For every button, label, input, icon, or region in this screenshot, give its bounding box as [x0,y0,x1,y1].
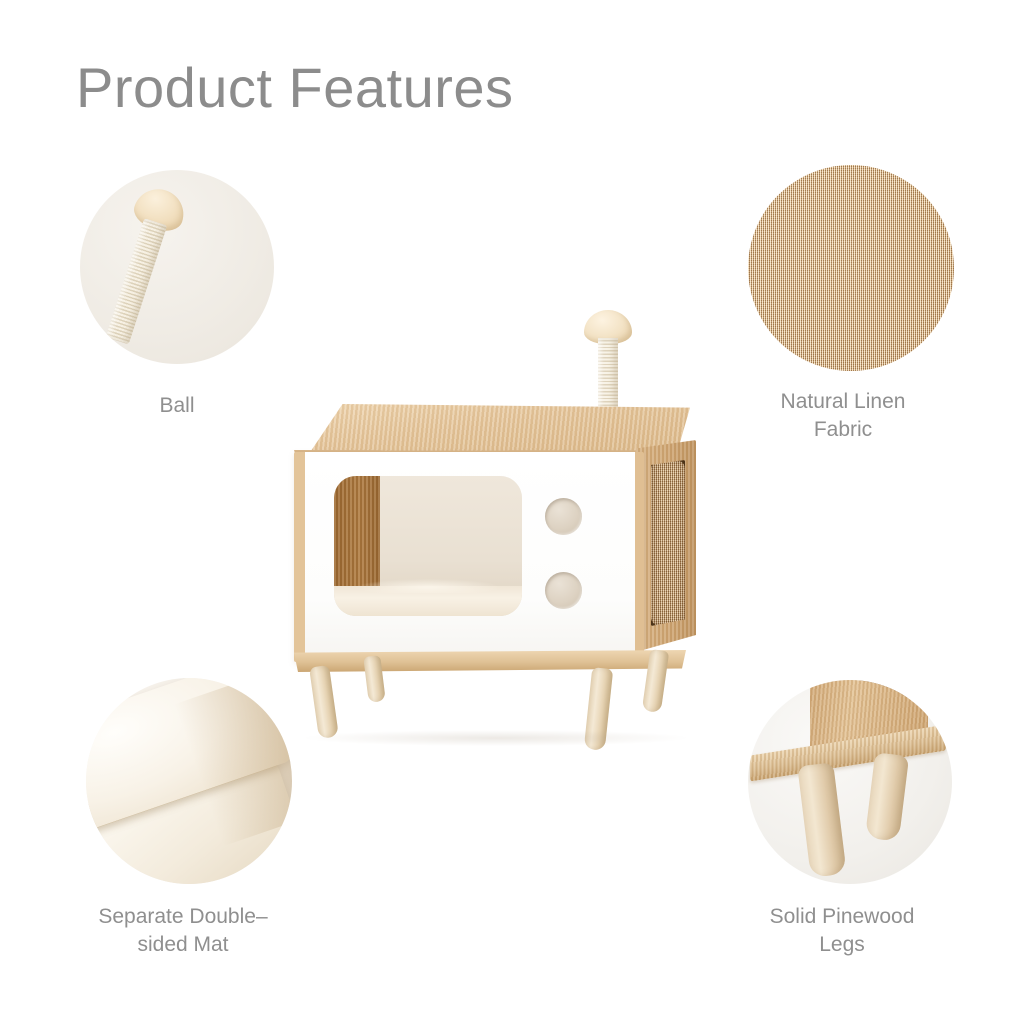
mat-label-line-2: sided Mat [53,931,313,959]
linen-label-line-2: Fabric [713,416,973,444]
sisal-post-with-ball-icon [91,182,194,351]
product-base-frame [290,650,690,672]
pinewood-legs-feature-label: Solid Pinewood Legs [712,903,972,958]
legs-label-line-2: Legs [712,931,972,959]
pinewood-legs-feature-circle [748,680,952,884]
mat-label-line-1: Separate Double– [53,903,313,931]
product-leg-front-left [309,665,339,739]
product-knob-bottom-icon [545,572,582,609]
product-ground-shadow [306,730,686,746]
page-title: Product Features [76,57,514,119]
legs-closeup-icon [748,680,952,884]
legs-label-line-1: Solid Pinewood [712,903,972,931]
mat-feature-circle [86,678,292,884]
product-interior-mat [334,586,522,616]
product-knob-top-icon [545,498,582,535]
mat-feature-label: Separate Double– sided Mat [53,903,313,958]
ball-feature-circle [80,170,274,364]
product-opening [334,476,522,616]
ball-feature-label: Ball [47,392,307,420]
sisal-shaft-icon [106,218,167,344]
product-features-infographic: Product Features Ball Natural Linen Fabr… [0,0,1024,1024]
product-image-tv-cat-house [280,300,710,740]
closeup-leg-back-icon [865,752,909,842]
linen-fabric-swatch-circle [748,165,954,371]
ball-label-line-1: Ball [47,392,307,420]
linen-label-line-1: Natural Linen [713,388,973,416]
linen-fabric-feature-label: Natural Linen Fabric [713,388,973,443]
product-linen-scratch-pad [651,460,685,626]
product-interior-side-wall [334,476,380,594]
closeup-leg-front-icon [797,762,846,878]
